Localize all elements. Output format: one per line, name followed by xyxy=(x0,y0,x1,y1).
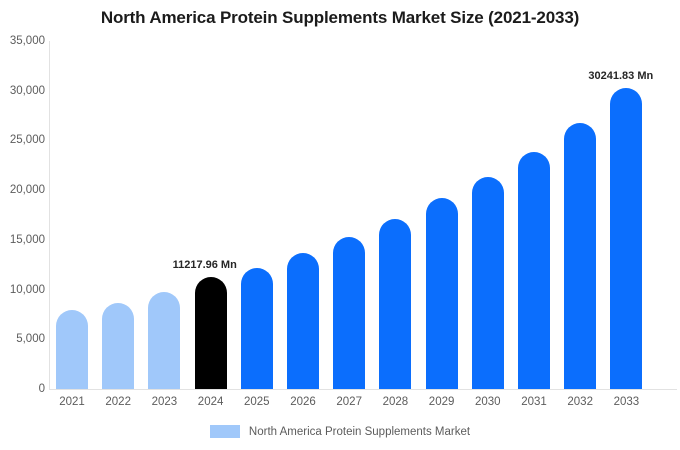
chart-container: North America Protein Supplements Market… xyxy=(0,0,680,450)
bar-rect xyxy=(610,88,642,389)
bar-rect xyxy=(564,123,596,389)
bar-2027[interactable] xyxy=(333,237,365,389)
bar-2021[interactable] xyxy=(56,310,88,389)
bar-2025[interactable] xyxy=(241,268,273,389)
bar-rect xyxy=(379,219,411,389)
bar-rect xyxy=(287,253,319,389)
bar-2022[interactable] xyxy=(102,303,134,390)
bar-rect xyxy=(426,198,458,389)
x-axis-tick-label-2033: 2033 xyxy=(596,396,656,408)
bar-rect xyxy=(518,152,550,389)
value-label-2033: 30241.83 Mn xyxy=(588,70,653,82)
chart-title: North America Protein Supplements Market… xyxy=(0,8,680,28)
bar-2028[interactable] xyxy=(379,219,411,389)
bar-2032[interactable] xyxy=(564,123,596,389)
bar-2031[interactable] xyxy=(518,152,550,389)
chart-legend: North America Protein Supplements Market xyxy=(0,425,680,438)
y-axis-tick-label: 30,000 xyxy=(1,85,45,97)
legend-swatch-icon xyxy=(210,425,240,438)
bar-rect xyxy=(56,310,88,389)
bar-2030[interactable] xyxy=(472,177,504,389)
y-axis-tick-label: 20,000 xyxy=(1,184,45,196)
bar-2029[interactable] xyxy=(426,198,458,389)
bar-rect xyxy=(148,292,180,389)
bar-2024[interactable] xyxy=(195,277,227,389)
y-axis-tick-label: 25,000 xyxy=(1,134,45,146)
bar-2033[interactable] xyxy=(610,88,642,389)
bar-2023[interactable] xyxy=(148,292,180,389)
bar-rect xyxy=(241,268,273,389)
bar-rect xyxy=(195,277,227,389)
y-axis-tick-label: 10,000 xyxy=(1,284,45,296)
bar-rect xyxy=(102,303,134,390)
y-axis-tick-label: 35,000 xyxy=(1,35,45,47)
bar-2026[interactable] xyxy=(287,253,319,389)
y-axis: 35,00030,00025,00020,00015,00010,0005,00… xyxy=(0,0,45,450)
y-axis-tick-label: 15,000 xyxy=(1,234,45,246)
y-axis-tick-label: 5,000 xyxy=(1,333,45,345)
bar-rect xyxy=(333,237,365,389)
y-axis-tick-label: 0 xyxy=(1,383,45,395)
legend-item-label: North America Protein Supplements Market xyxy=(249,426,470,438)
bar-rect xyxy=(472,177,504,389)
x-axis-line xyxy=(49,389,677,390)
value-label-2024: 11217.96 Mn xyxy=(173,259,237,271)
